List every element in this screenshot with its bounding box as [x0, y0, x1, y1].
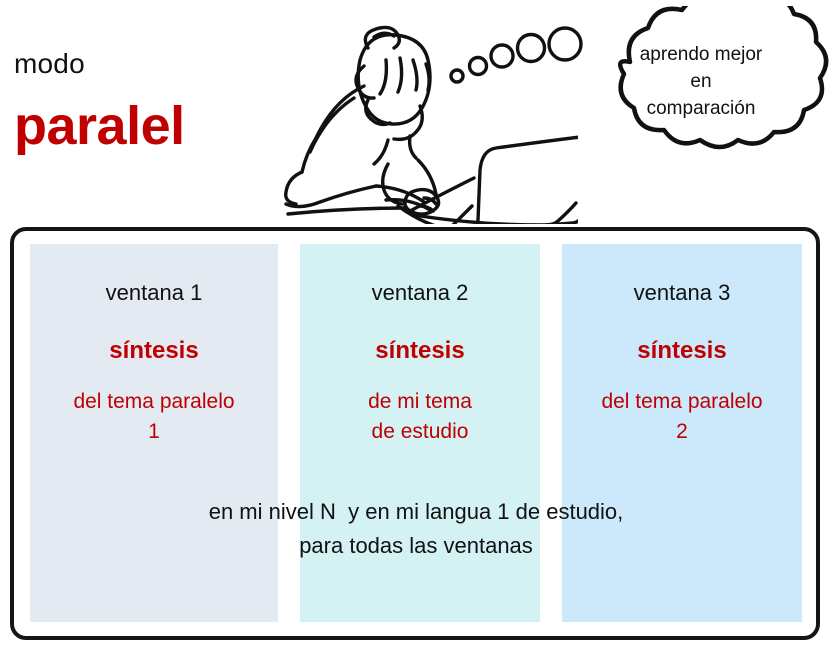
panel-caption: en mi nivel N y en mi langua 1 de estudi…: [30, 495, 802, 563]
caption-line-1: en mi nivel N y en mi langua 1 de estudi…: [30, 495, 802, 529]
window-1-description: del tema paralelo 1: [30, 387, 278, 448]
window-1-heading: síntesis: [30, 337, 278, 365]
title-paralel: paralel: [14, 95, 185, 157]
window-2-label: ventana 2: [300, 280, 540, 306]
thought-bubble-text: aprendo mejor en comparación: [596, 42, 806, 123]
window-column-1[interactable]: ventana 1 síntesis del tema paralelo 1: [30, 244, 278, 622]
caption-line-2: para todas las ventanas: [30, 529, 802, 563]
windows-columns: ventana 1 síntesis del tema paralelo 1 v…: [30, 244, 802, 622]
title-modo: modo: [14, 48, 85, 80]
window-1-label: ventana 1: [30, 280, 278, 306]
window-3-description: del tema paralelo 2: [562, 387, 802, 448]
window-column-3[interactable]: ventana 3 síntesis del tema paralelo 2: [562, 244, 802, 622]
header-area: modo paralel: [0, 0, 834, 227]
window-2-description: de mi tema de estudio: [300, 387, 540, 448]
window-3-heading: síntesis: [562, 337, 802, 365]
window-2-heading: síntesis: [300, 337, 540, 365]
window-3-label: ventana 3: [562, 280, 802, 306]
window-column-2[interactable]: ventana 2 síntesis de mi tema de estudio: [300, 244, 540, 622]
